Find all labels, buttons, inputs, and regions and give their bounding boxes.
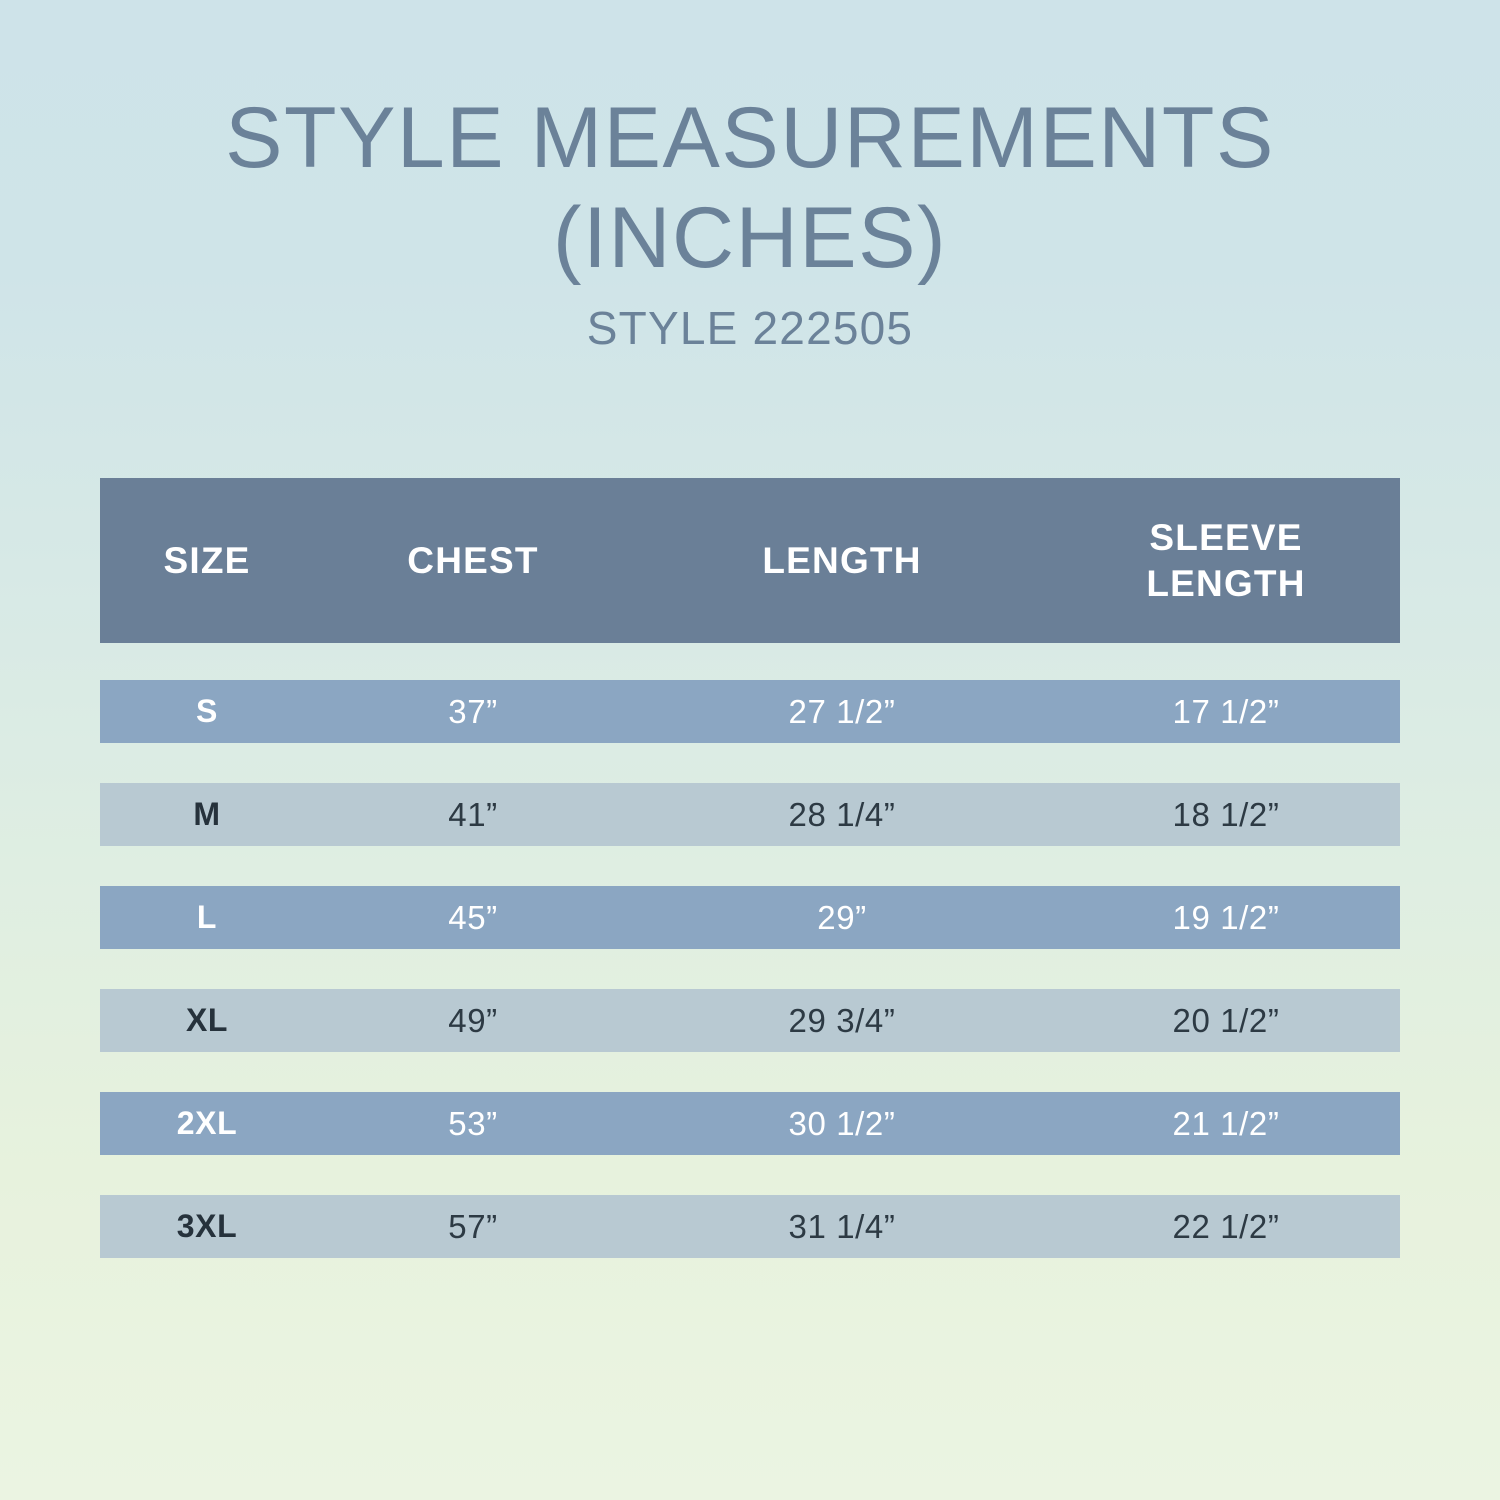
cell-chest: 37”: [314, 680, 632, 743]
cell-sleeve-length: 21 1/2”: [1052, 1092, 1400, 1155]
cell-length: 29”: [632, 886, 1052, 949]
cell-size: XL: [100, 989, 314, 1052]
cell-sleeve-length: 20 1/2”: [1052, 989, 1400, 1052]
cell-length: 28 1/4”: [632, 783, 1052, 846]
column-header-sleeve-length: SLEEVE LENGTH: [1052, 515, 1400, 607]
style-number-subtitle: STYLE 222505: [0, 300, 1500, 356]
cell-sleeve-length: 22 1/2”: [1052, 1195, 1400, 1258]
cell-chest: 45”: [314, 886, 632, 949]
table-row: M 41” 28 1/4” 18 1/2”: [100, 783, 1400, 846]
table-row: L 45” 29” 19 1/2”: [100, 886, 1400, 949]
cell-chest: 49”: [314, 989, 632, 1052]
cell-length: 31 1/4”: [632, 1195, 1052, 1258]
cell-chest: 41”: [314, 783, 632, 846]
table-header-row: SIZE CHEST LENGTH SLEEVE LENGTH: [100, 478, 1400, 643]
cell-chest: 53”: [314, 1092, 632, 1155]
table-row: S 37” 27 1/2” 17 1/2”: [100, 680, 1400, 743]
cell-length: 30 1/2”: [632, 1092, 1052, 1155]
cell-chest: 57”: [314, 1195, 632, 1258]
cell-length: 27 1/2”: [632, 680, 1052, 743]
cell-size: 2XL: [100, 1092, 314, 1155]
table-row: 2XL 53” 30 1/2” 21 1/2”: [100, 1092, 1400, 1155]
cell-sleeve-length: 17 1/2”: [1052, 680, 1400, 743]
cell-size: M: [100, 783, 314, 846]
title-block: STYLE MEASUREMENTS (INCHES) STYLE 222505: [0, 88, 1500, 356]
size-chart-page: STYLE MEASUREMENTS (INCHES) STYLE 222505…: [0, 0, 1500, 1500]
column-header-length: LENGTH: [632, 538, 1052, 584]
column-header-chest: CHEST: [314, 538, 632, 584]
size-measurements-table: SIZE CHEST LENGTH SLEEVE LENGTH S 37” 27…: [100, 478, 1400, 1258]
cell-size: L: [100, 886, 314, 949]
cell-size: S: [100, 680, 314, 743]
table-row: 3XL 57” 31 1/4” 22 1/2”: [100, 1195, 1400, 1258]
page-title: STYLE MEASUREMENTS (INCHES): [0, 88, 1500, 288]
cell-sleeve-length: 18 1/2”: [1052, 783, 1400, 846]
cell-size: 3XL: [100, 1195, 314, 1258]
table-row: XL 49” 29 3/4” 20 1/2”: [100, 989, 1400, 1052]
cell-length: 29 3/4”: [632, 989, 1052, 1052]
column-header-size: SIZE: [100, 538, 314, 584]
cell-sleeve-length: 19 1/2”: [1052, 886, 1400, 949]
